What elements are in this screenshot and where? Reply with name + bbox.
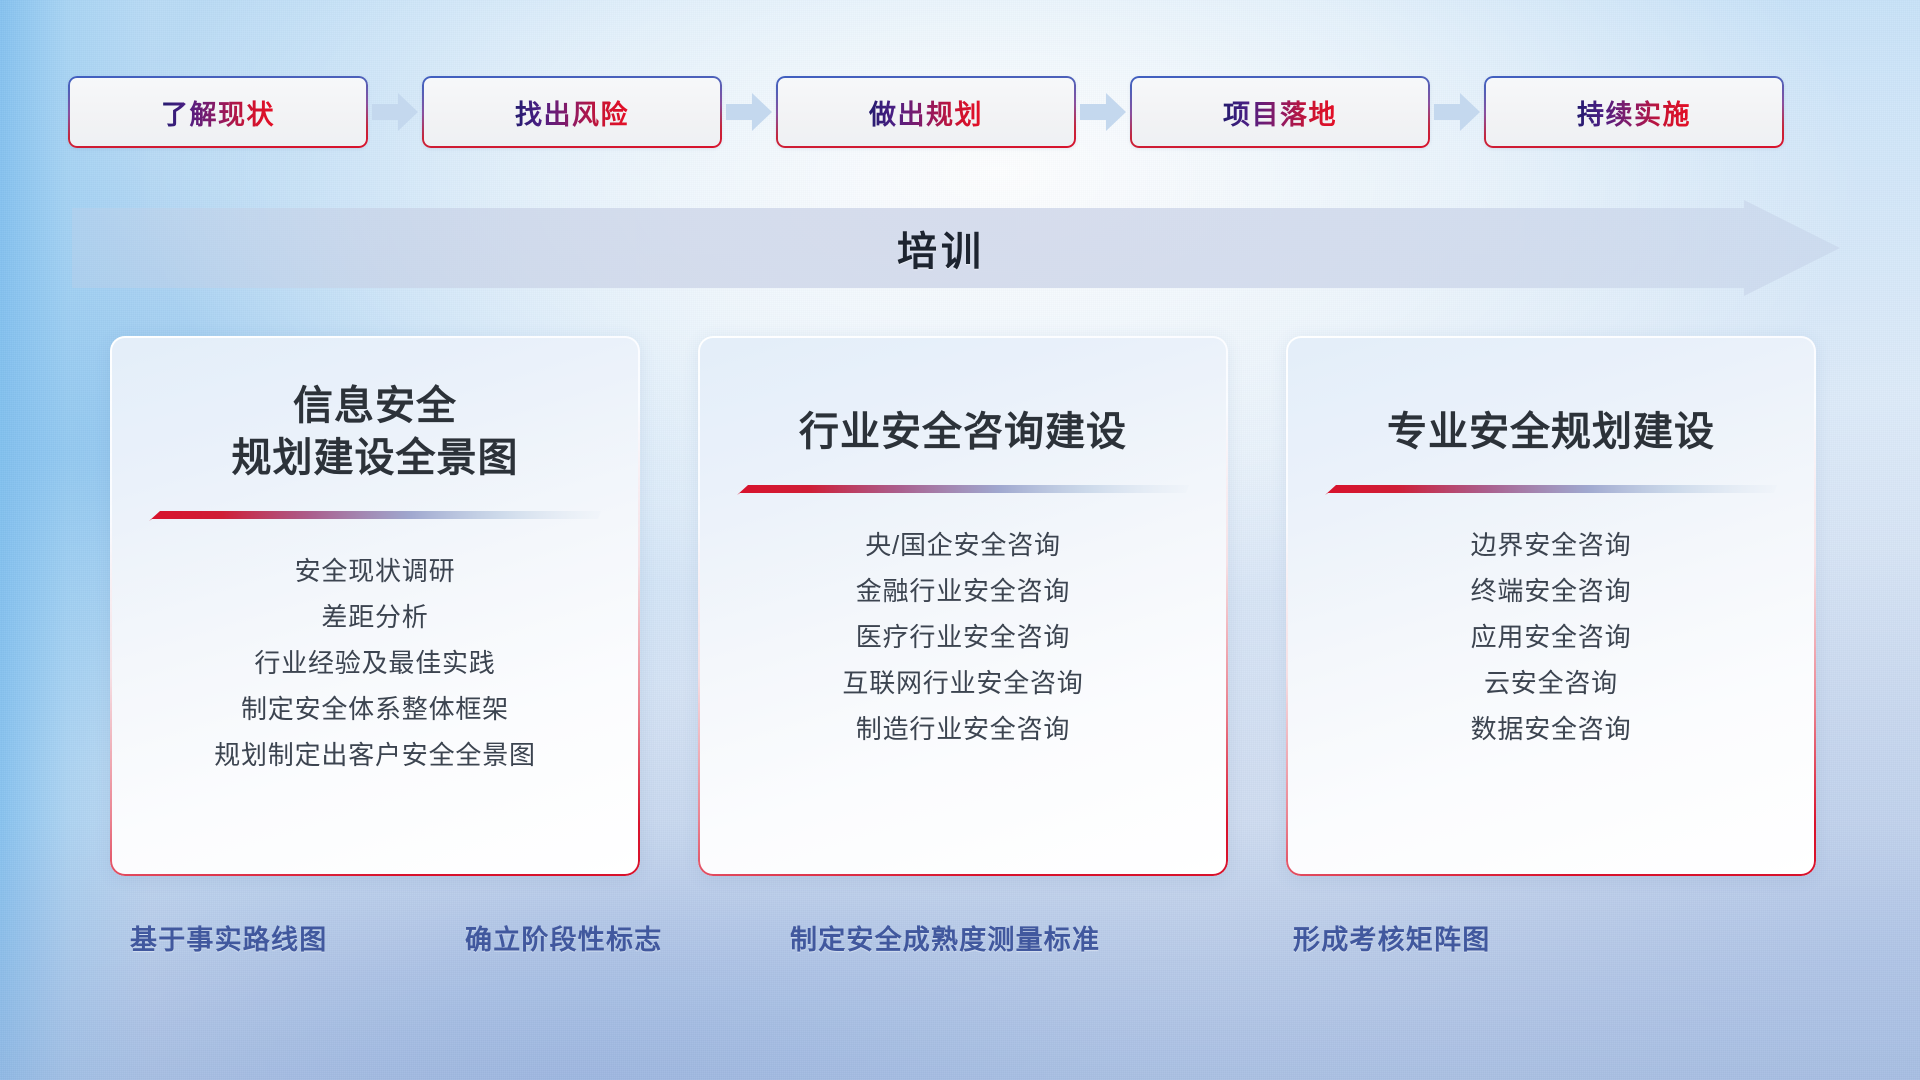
card-professional-security-planning[interactable]: 专业安全规划建设 边界安全咨询 终端安全咨询 应用安 xyxy=(1286,336,1816,876)
list-item: 差距分析 xyxy=(144,594,606,640)
caption-2: 确立阶段性标志 xyxy=(465,918,662,957)
card-divider-3 xyxy=(1325,482,1777,496)
step-box-2[interactable]: 找出风险 xyxy=(422,76,722,148)
step-box-1[interactable]: 了解现状 xyxy=(68,76,368,148)
card-divider-2 xyxy=(737,482,1189,496)
step-arrow-icon-4 xyxy=(1430,90,1484,134)
card-list-2: 央/国企安全咨询 金融行业安全咨询 医疗行业安全咨询 互联网行业安全咨询 制造行… xyxy=(732,522,1194,752)
list-item: 终端安全咨询 xyxy=(1320,568,1782,614)
list-item: 行业经验及最佳实践 xyxy=(144,640,606,686)
list-item: 边界安全咨询 xyxy=(1320,522,1782,568)
step-label-2: 找出风险 xyxy=(515,93,629,132)
list-item: 规划制定出客户安全全景图 xyxy=(144,732,606,778)
card-industry-security-consulting[interactable]: 行业安全咨询建设 央/国企安全咨询 金融行业安全咨询 xyxy=(698,336,1228,876)
card-title-2: 行业安全咨询建设 xyxy=(799,380,1127,458)
list-item: 制造行业安全咨询 xyxy=(732,706,1194,752)
caption-3: 制定安全成熟度测量标准 xyxy=(790,918,1100,957)
training-label: 培训 xyxy=(57,200,1825,296)
card-title-1: 信息安全 规划建设全景图 xyxy=(232,380,519,484)
step-arrow-icon-3 xyxy=(1076,90,1130,134)
step-box-3[interactable]: 做出规划 xyxy=(776,76,1076,148)
step-arrow-icon-2 xyxy=(722,90,776,134)
cards-row: 信息安全 规划建设全景图 安全现状调研 差距分析 行 xyxy=(110,336,1816,876)
list-item: 制定安全体系整体框架 xyxy=(144,686,606,732)
step-label-4: 项目落地 xyxy=(1223,93,1337,132)
list-item: 医疗行业安全咨询 xyxy=(732,614,1194,660)
card-list-1: 安全现状调研 差距分析 行业经验及最佳实践 制定安全体系整体框架 规划制定出客户… xyxy=(144,548,606,778)
step-label-5: 持续实施 xyxy=(1577,93,1691,132)
list-item: 互联网行业安全咨询 xyxy=(732,660,1194,706)
list-item: 云安全咨询 xyxy=(1320,660,1782,706)
card-divider-1 xyxy=(149,508,601,522)
step-box-4[interactable]: 项目落地 xyxy=(1130,76,1430,148)
list-item: 应用安全咨询 xyxy=(1320,614,1782,660)
caption-1: 基于事实路线图 xyxy=(130,918,327,957)
step-label-1: 了解现状 xyxy=(161,93,275,132)
list-item: 央/国企安全咨询 xyxy=(732,522,1194,568)
step-label-3: 做出规划 xyxy=(869,93,983,132)
caption-4: 形成考核矩阵图 xyxy=(1293,918,1490,957)
step-arrow-icon-1 xyxy=(368,90,422,134)
card-list-3: 边界安全咨询 终端安全咨询 应用安全咨询 云安全咨询 数据安全咨询 xyxy=(1320,522,1782,752)
list-item: 金融行业安全咨询 xyxy=(732,568,1194,614)
card-title-3: 专业安全规划建设 xyxy=(1387,380,1715,458)
step-box-5[interactable]: 持续实施 xyxy=(1484,76,1784,148)
caption-row: 基于事实路线图 确立阶段性标志 制定安全成熟度测量标准 形成考核矩阵图 xyxy=(0,918,1920,962)
training-banner: 培训 xyxy=(72,200,1840,296)
process-step-row: 了解现状 找出风险 做出规划 项目落地 持续实施 xyxy=(68,76,1850,148)
card-information-security-blueprint[interactable]: 信息安全 规划建设全景图 安全现状调研 差距分析 行 xyxy=(110,336,640,876)
list-item: 数据安全咨询 xyxy=(1320,706,1782,752)
list-item: 安全现状调研 xyxy=(144,548,606,594)
